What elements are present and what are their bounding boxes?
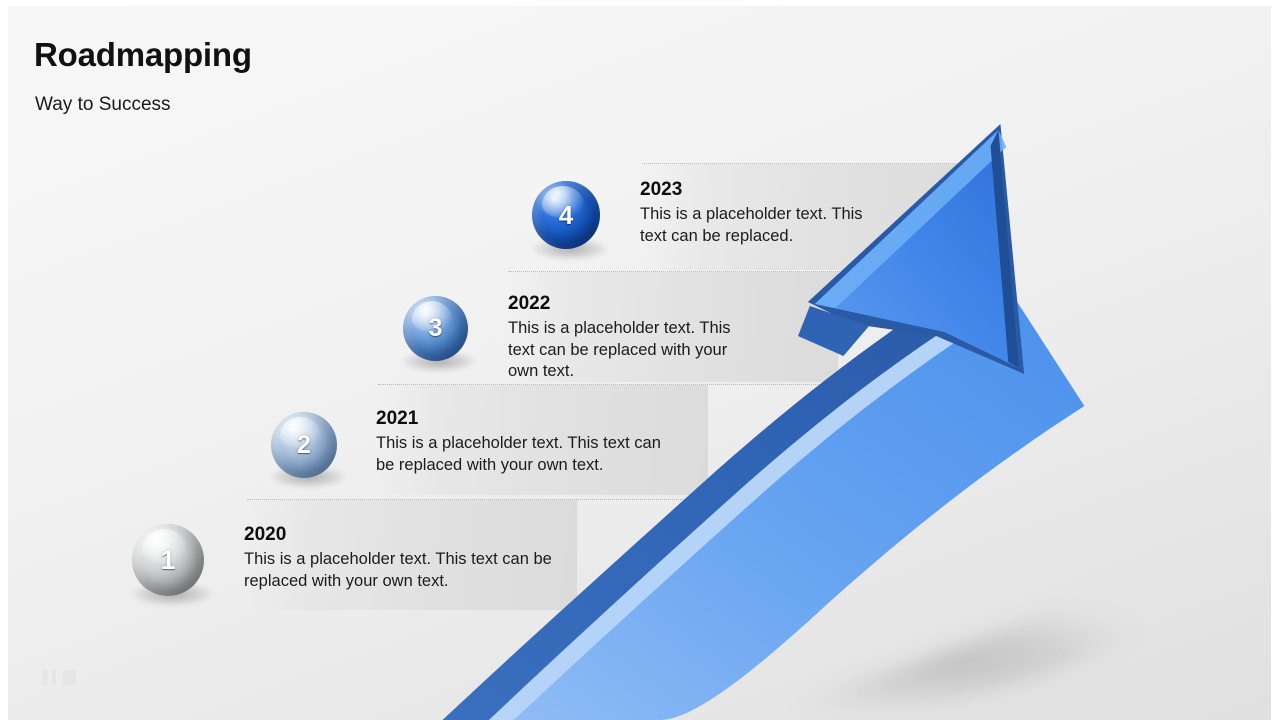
step-item-2: 2021 This is a placeholder text. This te… xyxy=(376,409,676,476)
step-item-1: 2020 This is a placeholder text. This te… xyxy=(244,525,574,592)
step-description-1: This is a placeholder text. This text ca… xyxy=(244,549,574,592)
step-number-2: 2 xyxy=(297,433,311,458)
step-marker-4[interactable]: 4 xyxy=(532,181,600,249)
step-marker-1[interactable]: 1 xyxy=(132,524,204,596)
step-number-1: 1 xyxy=(160,547,175,574)
step-year-4: 2023 xyxy=(640,180,870,200)
step-year-3: 2022 xyxy=(508,294,746,314)
step-description-3: This is a placeholder text. This text ca… xyxy=(508,318,746,383)
step-marker-3[interactable]: 3 xyxy=(403,296,468,361)
step-description-4: This is a placeholder text. This text ca… xyxy=(640,204,870,247)
step-year-2: 2021 xyxy=(376,409,676,429)
step-item-4: 2023 This is a placeholder text. This te… xyxy=(640,180,870,247)
page-title: Roadmapping xyxy=(34,36,252,74)
step-description-2: This is a placeholder text. This text ca… xyxy=(376,433,676,476)
step-item-3: 2022 This is a placeholder text. This te… xyxy=(508,294,746,383)
step-marker-2[interactable]: 2 xyxy=(271,412,337,478)
step-separator-4-top xyxy=(642,163,967,164)
watermark xyxy=(42,670,90,686)
step-year-1: 2020 xyxy=(244,525,574,545)
slide: Roadmapping Way to Success 4 2023 This i… xyxy=(0,0,1279,720)
step-number-4: 4 xyxy=(559,202,573,228)
step-number-3: 3 xyxy=(429,316,443,341)
page-subtitle: Way to Success xyxy=(35,94,171,116)
slide-canvas: Roadmapping Way to Success 4 2023 This i… xyxy=(8,6,1271,720)
